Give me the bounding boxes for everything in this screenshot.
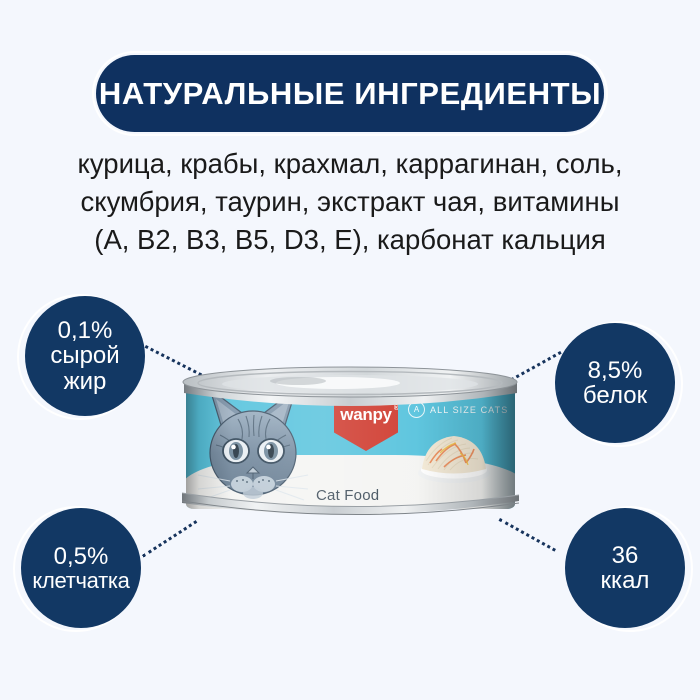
header-banner: НАТУРАЛЬНЫЕ ИНГРЕДИЕНТЫ (96, 55, 604, 132)
badge-value: 0,5% (54, 544, 109, 569)
badge-calories: 36 ккал (562, 505, 688, 631)
ingredients-line-2: скумбрия, таурин, экстракт чая, витамины (30, 183, 670, 221)
ingredients-line-3: (A, B2, B3, B5, D3, E), карбонат кальция (30, 221, 670, 259)
badge-label-line-1: ккал (601, 568, 650, 593)
can-lid (178, 365, 523, 409)
header-pill: НАТУРАЛЬНЫЕ ИНГРЕДИЕНТЫ (96, 55, 604, 132)
badge-fiber: 0,5% клетчатка (18, 505, 144, 631)
badge-disc: 0,5% клетчатка (21, 508, 141, 628)
badge-disc: 0,1% сырой жир (25, 296, 145, 416)
badge-disc: 8,5% белок (555, 323, 675, 443)
badge-label-line-1: белок (583, 383, 647, 408)
badge-value: 36 (612, 543, 639, 568)
badge-label-line-1: клетчатка (32, 569, 129, 592)
badge-value: 8,5% (588, 358, 643, 383)
badge-disc: 36 ккал (565, 508, 685, 628)
ingredients-line-1: курица, крабы, крахмал, каррагинан, соль… (30, 145, 670, 183)
page-title: НАТУРАЛЬНЫЕ ИНГРЕДИЕНТЫ (99, 76, 601, 112)
connector-fiber-to-can (142, 520, 197, 557)
badge-label-line-1: сырой (50, 343, 119, 368)
connector-kcal-to-can (499, 518, 556, 552)
badge-crude-fat: 0,1% сырой жир (22, 293, 148, 419)
can-base-rim (182, 491, 519, 523)
badge-protein: 8,5% белок (552, 320, 678, 446)
badge-value: 0,1% (58, 318, 113, 343)
badge-label-line-2: жир (64, 369, 107, 394)
product-can-image: wanpy® A ALL SIZE CATS (178, 365, 523, 523)
ingredients-text: курица, крабы, крахмал, каррагинан, соль… (30, 145, 670, 259)
infographic-canvas: НАТУРАЛЬНЫЕ ИНГРЕДИЕНТЫ курица, крабы, к… (0, 0, 700, 700)
